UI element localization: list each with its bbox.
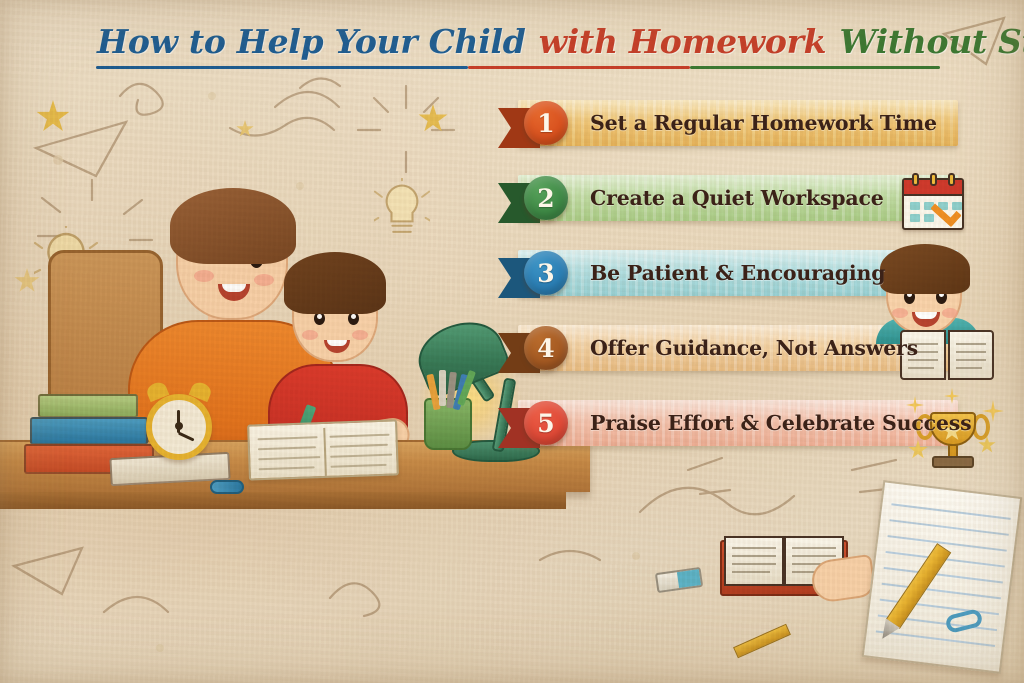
page-title: How to Help Your Child with Homework Wit… xyxy=(96,22,956,61)
step-badge-4: 4 xyxy=(524,326,568,370)
mother-cheek-right xyxy=(254,274,274,286)
title-block: How to Help Your Child with Homework Wit… xyxy=(96,22,956,69)
blue-marker xyxy=(210,480,244,494)
eraser-icon xyxy=(655,567,703,593)
title-part-2: with Homework xyxy=(538,22,828,61)
title-underline xyxy=(96,66,940,69)
alarm-clock xyxy=(146,394,212,460)
desk-edge xyxy=(0,492,566,509)
small-pencil xyxy=(733,624,791,659)
step-row-4[interactable]: 4 Offer Guidance, Not Answers xyxy=(510,325,958,371)
mother-mouth xyxy=(218,284,250,301)
title-part-3: Without Stress? xyxy=(838,22,1024,61)
underline-green xyxy=(690,66,940,69)
step-label-2: Create a Quiet Workspace xyxy=(590,175,884,221)
step-badge-2: 2 xyxy=(524,176,568,220)
underline-blue xyxy=(96,66,468,69)
trophy-base xyxy=(932,456,974,468)
underline-red xyxy=(468,66,690,69)
step-badge-3: 3 xyxy=(524,251,568,295)
blue-book xyxy=(30,417,148,445)
infographic-poster: How to Help Your Child with Homework Wit… xyxy=(0,0,1024,683)
step-label-4: Offer Guidance, Not Answers xyxy=(590,325,918,371)
star-icon xyxy=(36,100,70,134)
step-label-1: Set a Regular Homework Time xyxy=(590,100,937,146)
child-mouth xyxy=(324,340,350,353)
step-badge-5: 5 xyxy=(524,401,568,445)
mother-and-child-illustration xyxy=(0,140,520,560)
step-row-5[interactable]: 5 Praise Effort & Celebrate Success xyxy=(510,400,958,446)
star-icon xyxy=(236,120,254,138)
step-row-2[interactable]: 2 Create a Quiet Workspace xyxy=(510,175,958,221)
lined-paper-sheet xyxy=(862,480,1023,674)
green-book xyxy=(38,394,138,418)
step-label-5: Praise Effort & Celebrate Success xyxy=(590,400,971,446)
pencil-cup xyxy=(424,398,472,450)
boy-cheek-right xyxy=(942,308,958,318)
mother-cheek-left xyxy=(194,270,214,282)
child-cheek-left xyxy=(302,330,318,340)
mother-hair-front xyxy=(170,188,296,264)
boy-cheek-left xyxy=(892,308,908,318)
star-icon xyxy=(418,104,448,134)
calendar-icon xyxy=(902,178,964,230)
title-part-1: How to Help Your Child xyxy=(96,22,526,61)
child-hair xyxy=(284,252,386,314)
open-notebook xyxy=(247,419,399,480)
step-row-1[interactable]: 1 Set a Regular Homework Time xyxy=(510,100,958,146)
smiling-boy-hair xyxy=(880,244,970,294)
step-label-3: Be Patient & Encouraging xyxy=(590,250,885,296)
child-cheek-right xyxy=(352,330,368,340)
step-badge-1: 1 xyxy=(524,101,568,145)
